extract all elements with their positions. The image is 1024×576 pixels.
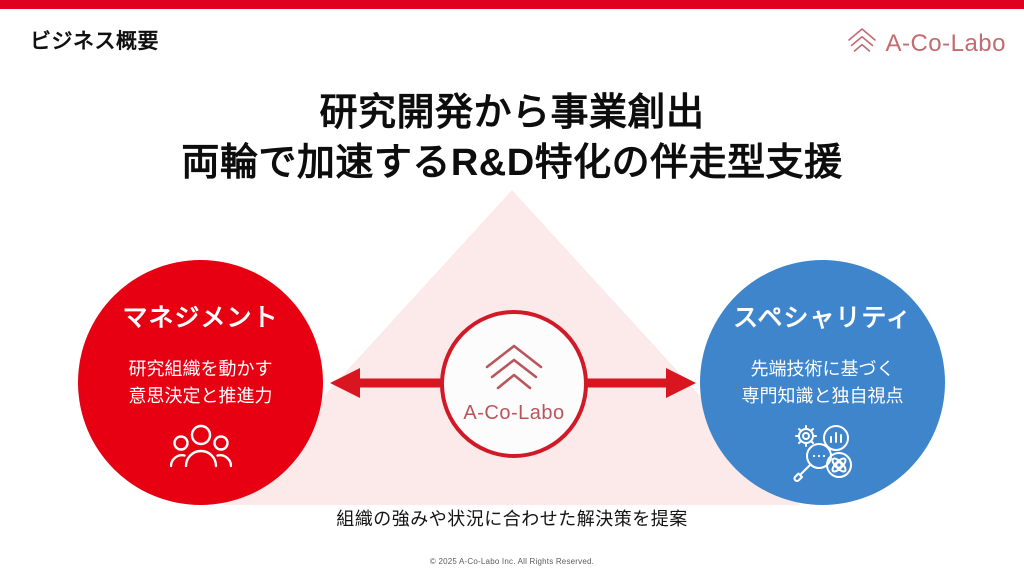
diagram-caption: 組織の強みや状況に合わせた解決策を提案 <box>0 505 1024 531</box>
chevron-stack-icon <box>483 343 545 400</box>
hub-logo-circle[interactable]: A-Co-Labo <box>440 310 588 458</box>
headline-line-1: 研究開発から事業創出 <box>0 88 1024 138</box>
headline-line-2: 両輪で加速するR&D特化の伴走型支援 <box>0 138 1024 188</box>
copyright-footer: © 2025 A-Co-Labo Inc. All Rights Reserve… <box>0 557 1024 566</box>
headline: 研究開発から事業創出 両輪で加速するR&D特化の伴走型支援 <box>0 88 1024 188</box>
slide-root: ビジネス概要 A-Co-Labo 研究開発から事業創出 両輪で加速するR&D特化… <box>0 0 1024 576</box>
connector-arrows <box>0 0 1024 576</box>
hub-logo-text: A-Co-Labo <box>463 402 564 425</box>
diagram: マネジメント 研究組織を動かす 意思決定と推進力 <box>0 0 1024 576</box>
